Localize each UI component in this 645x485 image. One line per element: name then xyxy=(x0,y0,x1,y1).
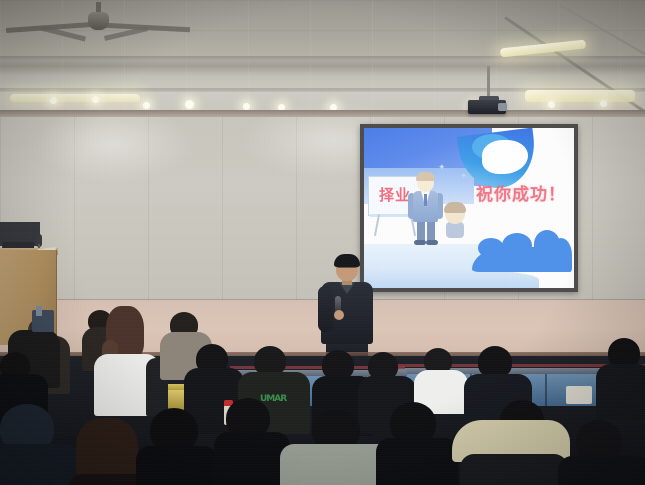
audience-torso xyxy=(136,446,218,485)
shirt-graphic: UMAR xyxy=(260,394,286,404)
fan-motor xyxy=(88,12,109,30)
audience-torso xyxy=(376,438,458,485)
audience-torso xyxy=(0,444,80,485)
ceiling-spot-light xyxy=(243,103,250,110)
presenter-hand xyxy=(334,310,344,320)
cartoon-businessman-icon xyxy=(409,174,443,244)
ceiling-spot-light xyxy=(50,97,57,104)
paper-sheet xyxy=(566,386,592,404)
ceiling-fan-icon xyxy=(46,2,156,42)
presentation-slide: 择业 ✦ ✦ ✦ 祝你成功！ xyxy=(364,128,574,288)
ceiling-spot-light xyxy=(185,100,194,109)
audience-torso xyxy=(460,454,568,485)
slide-title-text: 祝你成功！ xyxy=(476,180,574,205)
presenter-arm xyxy=(318,286,333,332)
cartoon-child-icon xyxy=(442,204,468,240)
ceiling-beam xyxy=(0,56,645,61)
audience-torso xyxy=(214,432,290,485)
easel-leg xyxy=(374,214,380,236)
lecture-hall-photo: 择业 ✦ ✦ ✦ 祝你成功！ xyxy=(0,0,645,485)
sparkle-icon: ✦ xyxy=(452,194,458,202)
presenter xyxy=(318,256,376,364)
sparkle-icon: ✦ xyxy=(438,162,446,173)
bag-strap xyxy=(36,306,42,316)
glasses-icon xyxy=(337,265,357,268)
projector-lens-icon xyxy=(498,103,507,111)
fluorescent-light xyxy=(525,90,635,102)
slide-cloud xyxy=(550,238,572,272)
ceiling-spot-light xyxy=(92,96,99,103)
sparkle-icon: ✦ xyxy=(461,172,467,180)
projection-screen: 择业 ✦ ✦ ✦ 祝你成功！ xyxy=(360,124,578,292)
wall-trim xyxy=(0,110,645,117)
fluorescent-light xyxy=(10,94,140,102)
ceiling-spot-light xyxy=(548,101,555,108)
ceiling-spot-light xyxy=(600,100,607,107)
seat-divider xyxy=(545,374,547,406)
audience-torso xyxy=(558,456,645,485)
audience-torso xyxy=(596,364,645,420)
